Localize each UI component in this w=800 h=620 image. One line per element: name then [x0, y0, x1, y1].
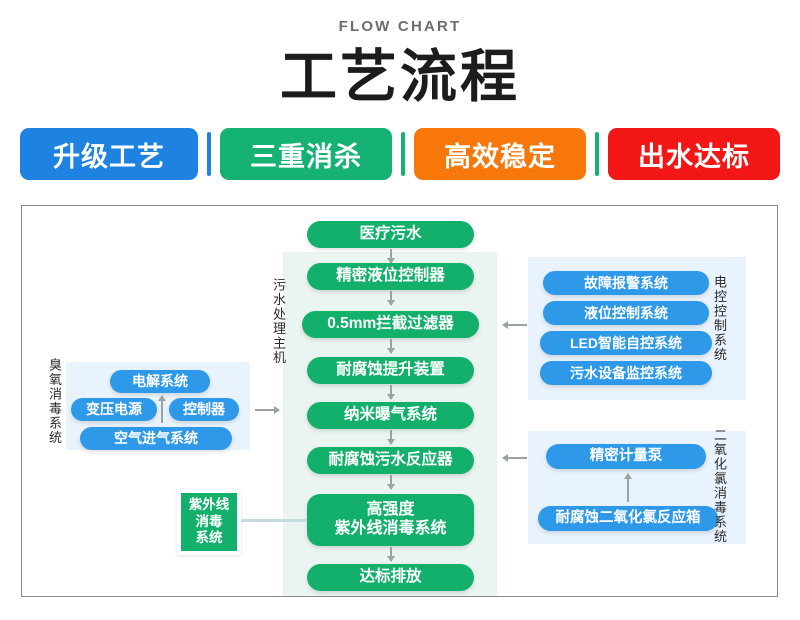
node-transformer-power: 变压电源	[71, 398, 157, 421]
arrow-control-to-main	[503, 324, 527, 326]
node-precision-level-controller: 精密液位控制器	[307, 263, 474, 290]
page-title: 工艺流程	[0, 44, 800, 110]
node-led-auto-control-system: LED智能自控系统	[540, 331, 712, 355]
badge-divider	[401, 132, 405, 176]
arrow-down	[390, 339, 392, 353]
node-uv-module: 紫外线 消毒 系统	[177, 489, 241, 555]
node-nano-aeration: 纳米曝气系统	[307, 402, 474, 429]
node-wastewater-monitoring-system: 污水设备监控系统	[540, 361, 712, 385]
node-intercept-filter: 0.5mm拦截过滤器	[302, 311, 479, 338]
arrow-ozone-to-main	[255, 409, 279, 411]
node-fault-alarm-system: 故障报警系统	[543, 271, 709, 295]
node-level-control-system: 液位控制系统	[543, 301, 709, 325]
arrow-down	[390, 430, 392, 444]
arrow-up	[161, 396, 163, 423]
badge-divider	[207, 132, 211, 176]
label-chlorine-module: 二氧化氯消毒系统	[713, 428, 726, 544]
label-control-module: 电控控制系统	[713, 275, 726, 362]
arrow-down	[390, 547, 392, 561]
node-standard-discharge: 达标排放	[307, 564, 474, 591]
arrow-chlorine-to-main	[503, 457, 527, 459]
label-ozone-module: 臭氧消毒系统	[48, 358, 61, 445]
node-precision-dosing-pump: 精密计量泵	[546, 444, 706, 469]
node-uv-disinfection-system: 高强度 紫外线消毒系统	[307, 494, 474, 546]
badge-triple-disinfection: 三重消杀	[220, 128, 392, 180]
badge-row: 升级工艺 三重消杀 高效稳定 出水达标	[20, 128, 780, 180]
arrow-down	[390, 475, 392, 489]
label-main-line: 污水处理主机	[272, 278, 285, 365]
node-controller: 控制器	[169, 398, 239, 421]
arrow-down	[390, 249, 392, 263]
badge-upgrade-process: 升级工艺	[20, 128, 198, 180]
kicker-text: FLOW CHART	[0, 18, 800, 35]
badge-efficient-stable: 高效稳定	[414, 128, 586, 180]
badge-effluent-standard: 出水达标	[608, 128, 780, 180]
connector-uv-to-main	[241, 519, 307, 522]
node-reactor: 耐腐蚀污水反应器	[307, 447, 474, 474]
badge-divider	[595, 132, 599, 176]
arrow-down	[390, 385, 392, 399]
arrow-up	[627, 474, 629, 502]
node-air-intake-system: 空气进气系统	[80, 427, 232, 450]
node-medical-wastewater: 医疗污水	[307, 221, 474, 248]
node-corrosion-resistant-lift: 耐腐蚀提升装置	[307, 357, 474, 384]
node-electrolysis-system: 电解系统	[110, 370, 210, 393]
arrow-down	[390, 291, 392, 305]
node-chlorine-dioxide-reactor: 耐腐蚀二氧化氯反应箱	[538, 506, 718, 531]
